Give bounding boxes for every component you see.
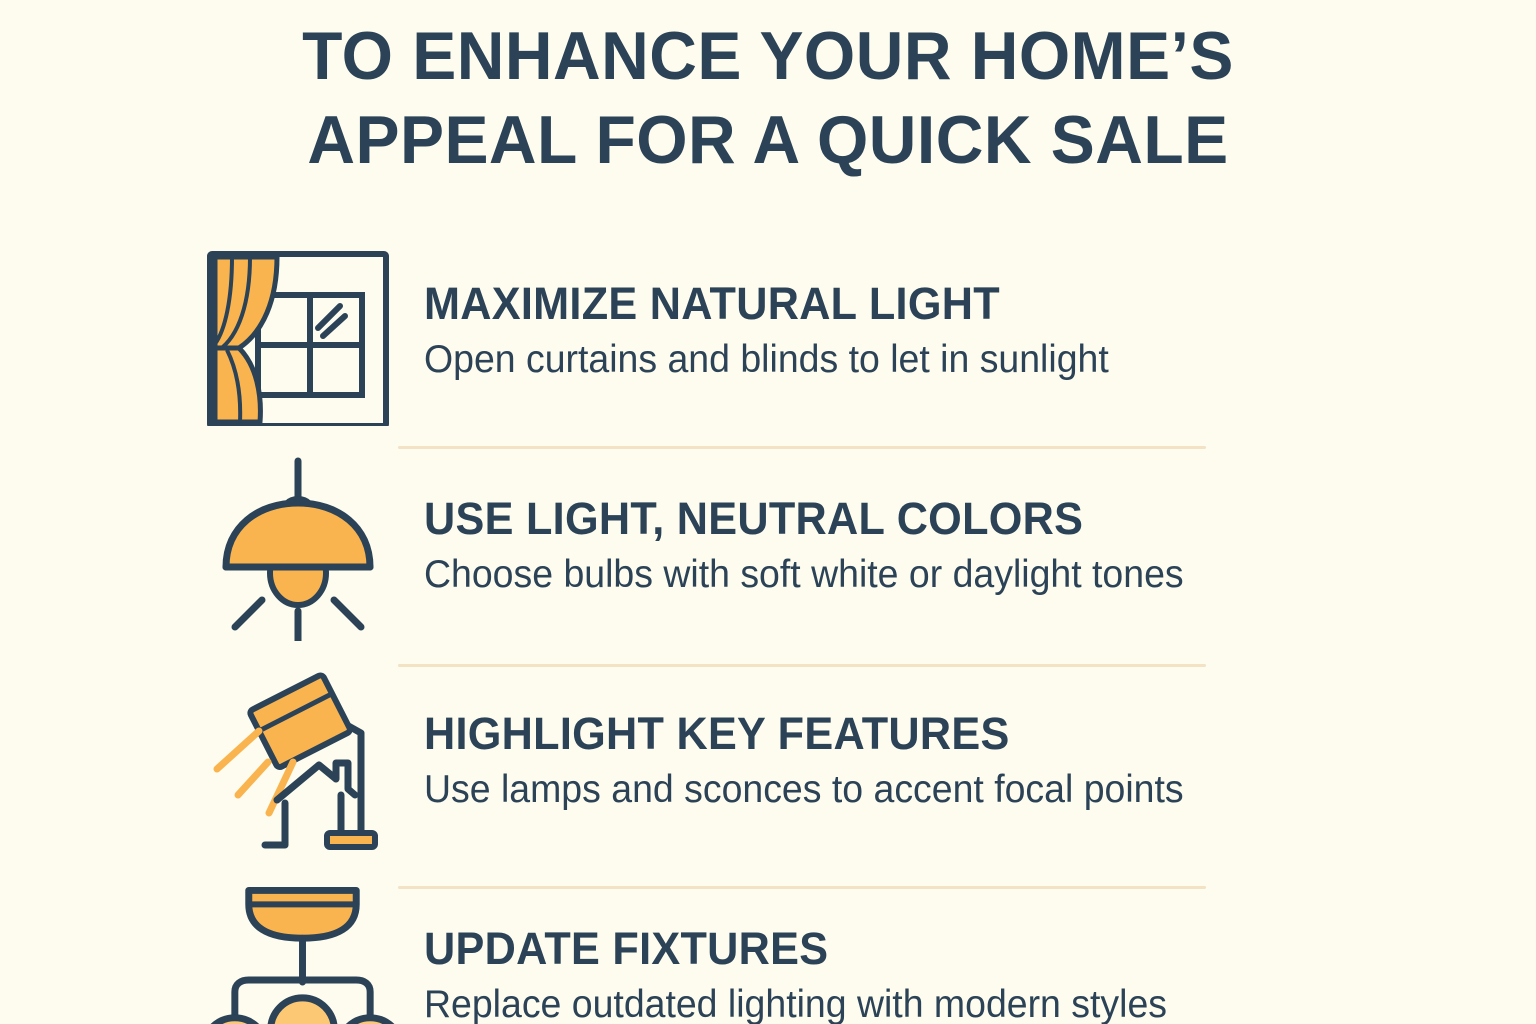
list-item-text: USE LIGHT, NEUTRAL COLORS Choose bulbs w… <box>400 493 1536 603</box>
pendant-lamp-icon <box>205 450 400 645</box>
list-item-title: UPDATE FIXTURES <box>424 923 1492 975</box>
list-item-text: UPDATE FIXTURES Replace outdated lightin… <box>400 923 1536 1024</box>
list-item-text: MAXIMIZE NATURAL LIGHT Open curtains and… <box>400 278 1536 388</box>
list-item-description: Open curtains and blinds to let in sunli… <box>424 336 1492 384</box>
poster-title-line-2: APPEAL FOR A QUICK SALE <box>23 98 1513 182</box>
list-item: MAXIMIZE NATURAL LIGHT Open curtains and… <box>0 225 1536 440</box>
section-divider <box>398 446 1206 449</box>
desk-lamp-house-icon <box>205 665 400 860</box>
curtained-window-icon <box>205 235 400 430</box>
list-item-description: Use lamps and sconces to accent focal po… <box>424 766 1492 814</box>
section-divider <box>398 886 1206 889</box>
list-item-title: USE LIGHT, NEUTRAL COLORS <box>424 493 1492 545</box>
poster-title-line-1: TO ENHANCE YOUR HOME’S <box>23 14 1513 98</box>
poster-title: TO ENHANCE YOUR HOME’S APPEAL FOR A QUIC… <box>0 14 1536 182</box>
tips-list: MAXIMIZE NATURAL LIGHT Open curtains and… <box>0 225 1536 1024</box>
list-item: HIGHLIGHT KEY FEATURES Use lamps and sco… <box>0 655 1536 870</box>
list-item-description: Choose bulbs with soft white or daylight… <box>424 551 1492 599</box>
list-item-title: MAXIMIZE NATURAL LIGHT <box>424 278 1492 330</box>
list-item: UPDATE FIXTURES Replace outdated lightin… <box>0 870 1536 1024</box>
list-item-description: Replace outdated lighting with modern st… <box>424 981 1492 1024</box>
section-divider <box>398 664 1206 667</box>
list-item-text: HIGHLIGHT KEY FEATURES Use lamps and sco… <box>400 708 1536 818</box>
list-item: USE LIGHT, NEUTRAL COLORS Choose bulbs w… <box>0 440 1536 655</box>
infographic-poster: TO ENHANCE YOUR HOME’S APPEAL FOR A QUIC… <box>0 0 1536 1024</box>
list-item-title: HIGHLIGHT KEY FEATURES <box>424 708 1492 760</box>
chandelier-icon <box>205 880 400 1024</box>
